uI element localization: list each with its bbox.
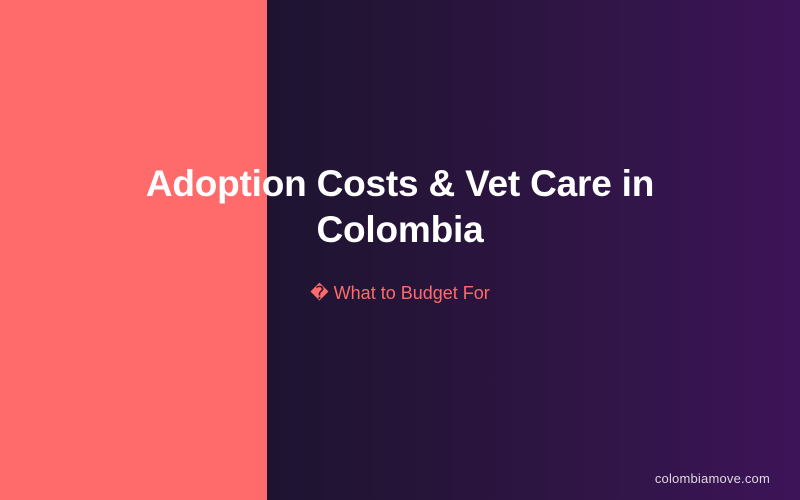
slide-subtitle: � What to Budget For (60, 282, 740, 305)
page-title: Adoption Costs & Vet Care in Colombia (100, 161, 700, 254)
promo-slide: Adoption Costs & Vet Care in Colombia � … (0, 0, 800, 500)
footer-website-label: colombiamove.com (655, 471, 770, 486)
slide-content: Adoption Costs & Vet Care in Colombia � … (0, 0, 800, 500)
